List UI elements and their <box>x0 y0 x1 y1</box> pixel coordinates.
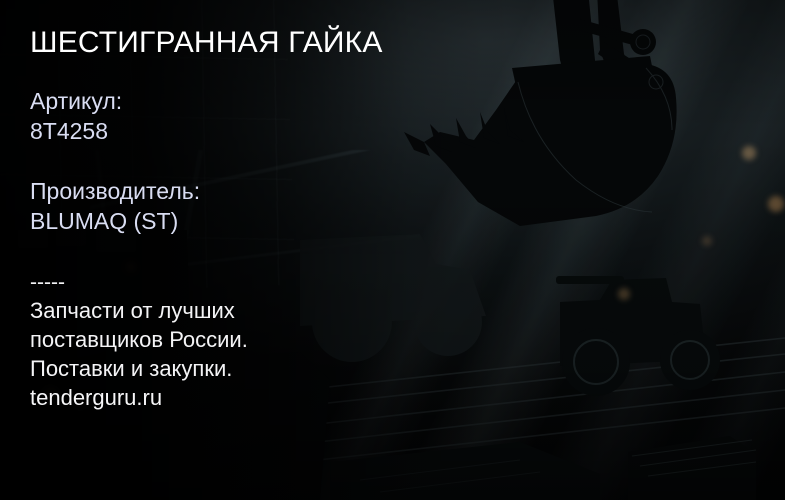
manufacturer-label: Производитель: <box>30 176 200 206</box>
product-title: ШЕСТИГРАННАЯ ГАЙКА <box>30 26 383 60</box>
promo-block: ----- Запчасти от лучших поставщиков Рос… <box>30 270 430 412</box>
article-block: Артикул: 8T4258 <box>30 86 122 146</box>
product-card: ШЕСТИГРАННАЯ ГАЙКА Артикул: 8T4258 Произ… <box>0 0 785 500</box>
promo-separator: ----- <box>30 270 430 296</box>
promo-line-1: Запчасти от лучших <box>30 296 430 325</box>
manufacturer-block: Производитель: BLUMAQ (ST) <box>30 176 200 236</box>
bokeh-light <box>768 196 784 212</box>
article-value: 8T4258 <box>30 116 122 146</box>
bokeh-light <box>702 236 712 246</box>
promo-site-url: tenderguru.ru <box>30 383 430 412</box>
article-label: Артикул: <box>30 86 122 116</box>
promo-line-3: Поставки и закупки. <box>30 354 430 383</box>
bokeh-light <box>742 146 756 160</box>
text-column: ШЕСТИГРАННАЯ ГАЙКА Артикул: 8T4258 Произ… <box>30 0 450 500</box>
promo-line-2: поставщиков России. <box>30 325 430 354</box>
manufacturer-value: BLUMAQ (ST) <box>30 206 200 236</box>
excavator-bucket-icon <box>400 0 785 250</box>
bokeh-light <box>618 288 630 300</box>
